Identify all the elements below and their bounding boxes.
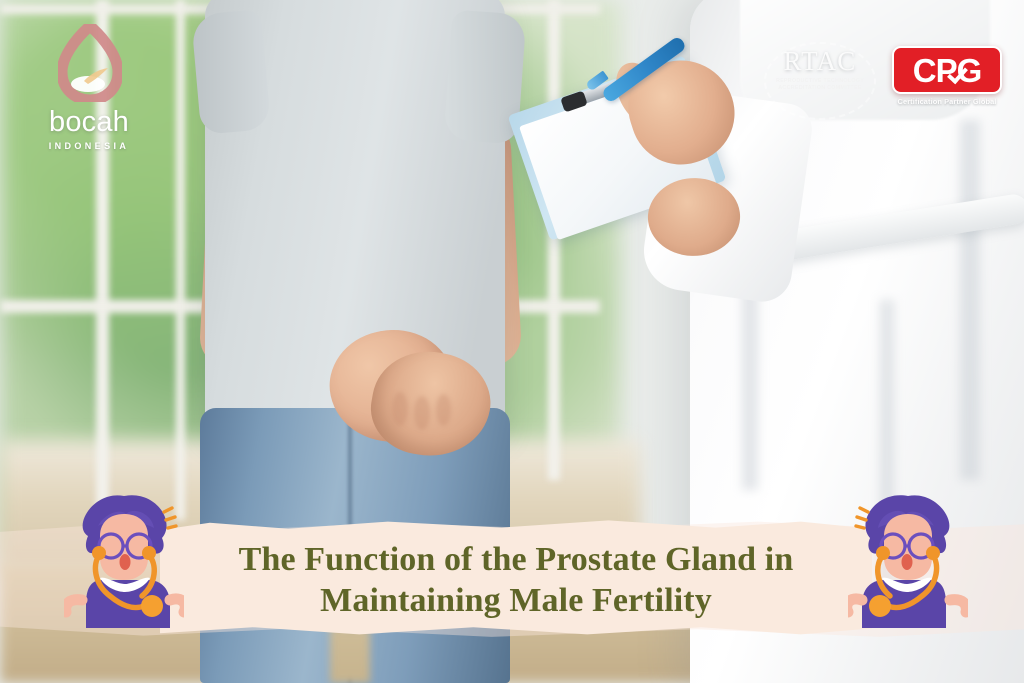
hero-banner-image: bocah INDONESIA RTAC REPRODUCTIVE TECHNO… — [0, 0, 1024, 683]
cpg-logo-box: CPG — [892, 46, 1002, 94]
cpg-subtitle: Certification Partner Global — [892, 97, 1002, 106]
window-mullion-vertical — [176, 0, 185, 520]
bocah-teardrop-logo-icon — [58, 24, 122, 102]
page-title: The Function of the Prostate Gland in Ma… — [160, 534, 872, 626]
rtac-badge[interactable]: RTAC REPRODUCTIVE TECHNOLOGY ACCREDITATI… — [766, 46, 874, 118]
brand-logo[interactable]: bocah INDONESIA — [34, 24, 144, 146]
rtac-subtitle: REPRODUCTIVE TECHNOLOGY ACCREDITATION CO… — [766, 78, 874, 92]
cpg-acronym: CPG — [894, 48, 1000, 94]
knuckle-shadow — [392, 392, 408, 426]
doctor-mascot-icon — [848, 492, 968, 632]
coat-fold — [960, 120, 980, 480]
knuckle-shadow — [414, 396, 430, 430]
title-line-2: Maintaining Male Fertility — [320, 580, 712, 621]
doctor-mascot-icon — [64, 492, 184, 632]
patient-left-sleeve — [191, 9, 271, 135]
title-banner-area: The Function of the Prostate Gland in Ma… — [0, 498, 1024, 658]
title-line-1: The Function of the Prostate Gland in — [239, 539, 794, 580]
window-mullion-vertical — [548, 0, 560, 480]
logo-wordmark: bocah — [34, 108, 144, 137]
logo-subtitle: INDONESIA — [34, 141, 144, 151]
cpg-badge[interactable]: CPG Certification Partner Global — [892, 46, 1002, 118]
certification-badges: RTAC REPRODUCTIVE TECHNOLOGY ACCREDITATI… — [766, 46, 1002, 118]
knuckle-shadow — [436, 394, 451, 426]
